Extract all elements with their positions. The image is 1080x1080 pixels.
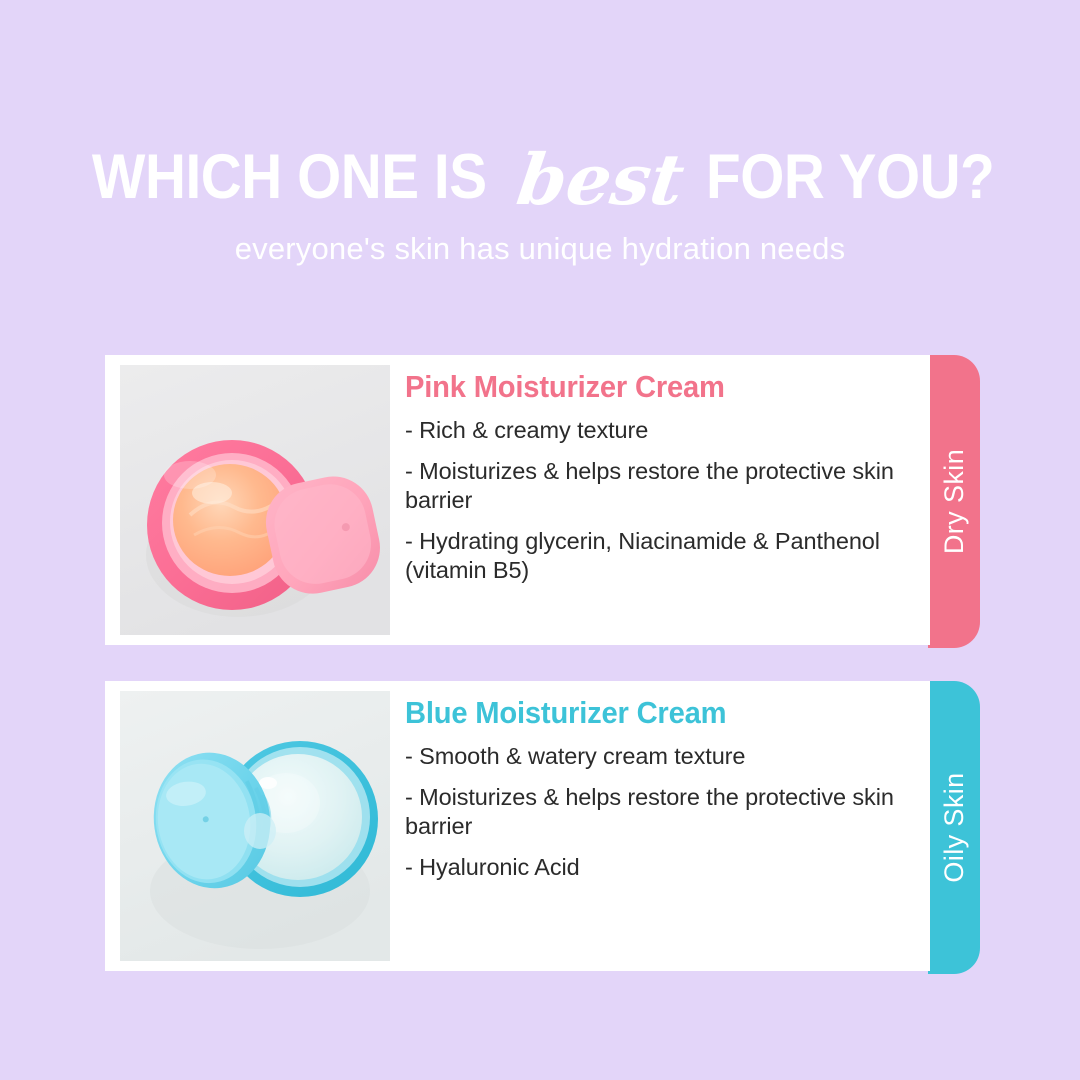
headline-part2: FOR YOU? — [706, 146, 994, 209]
product-feature: - Hydrating glycerin, Niacinamide & Pant… — [405, 527, 915, 584]
product-feature: - Hyaluronic Acid — [405, 853, 915, 881]
product-title-blue: Blue Moisturizer Cream — [405, 695, 884, 731]
card-body: Blue Moisturizer Cream - Smooth & watery… — [105, 681, 930, 971]
product-feature: - Smooth & watery cream texture — [405, 742, 915, 770]
page-title: WHICH ONE ISbestFOR YOU? — [0, 139, 1080, 209]
page-subtitle: everyone's skin has unique hydration nee… — [0, 231, 1080, 267]
skin-type-tab-oily: Oily Skin — [928, 681, 980, 974]
header-section: WHICH ONE ISbestFOR YOU? everyone's skin… — [0, 0, 1080, 330]
product-feature: - Moisturizes & helps restore the protec… — [405, 457, 915, 514]
card-text-block: Blue Moisturizer Cream - Smooth & watery… — [405, 695, 915, 882]
product-feature: - Moisturizes & helps restore the protec… — [405, 783, 915, 840]
card-text-block: Pink Moisturizer Cream - Rich & creamy t… — [405, 369, 915, 584]
product-title-pink: Pink Moisturizer Cream — [405, 369, 884, 405]
headline-part1: WHICH ONE IS — [92, 146, 487, 209]
card-body: Pink Moisturizer Cream - Rich & creamy t… — [105, 355, 930, 645]
skin-type-tab-label: Oily Skin — [928, 681, 980, 974]
pink-jar-illustration — [120, 365, 390, 635]
blue-jar-illustration — [120, 691, 390, 961]
product-photo-pink — [120, 365, 390, 635]
skin-type-tab-label: Dry Skin — [928, 355, 980, 648]
product-photo-blue — [120, 691, 390, 961]
headline-script-word: best — [514, 145, 689, 215]
skin-type-tab-dry: Dry Skin — [928, 355, 980, 648]
product-feature: - Rich & creamy texture — [405, 416, 915, 444]
